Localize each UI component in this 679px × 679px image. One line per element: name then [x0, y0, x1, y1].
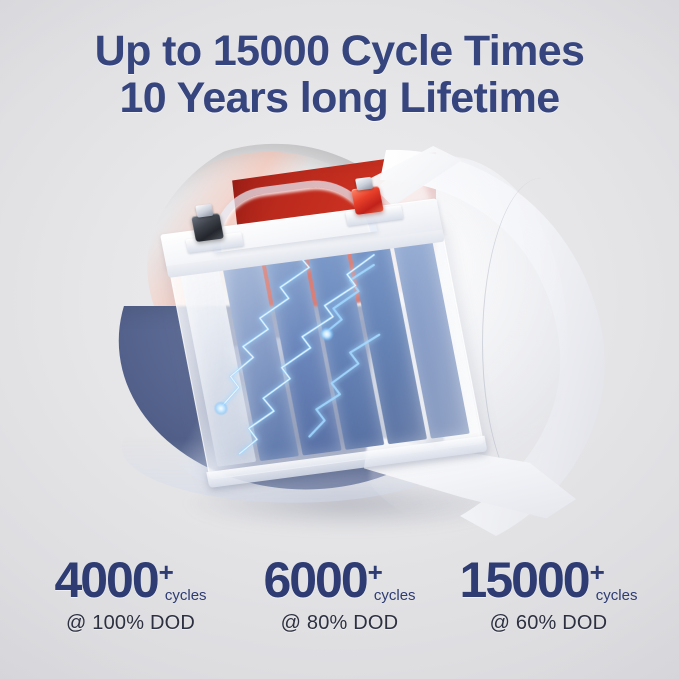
- stat-dod-label: @ 60% DOD: [444, 612, 653, 635]
- headline-line-2: 10 Years long Lifetime: [0, 75, 679, 122]
- stat-block-80-dod: 6000 + cycles @ 80% DOD: [235, 555, 444, 635]
- stat-number: 6000: [263, 555, 366, 605]
- stat-number: 4000: [54, 555, 157, 605]
- battery-unit: [147, 181, 501, 507]
- headline-line-1: Up to 15000 Cycle Times: [0, 28, 679, 75]
- hero-product-image: [78, 138, 608, 538]
- stat-value-group: 4000 + cycles: [26, 555, 235, 605]
- stat-value-group: 6000 + cycles: [235, 555, 444, 605]
- stat-unit: cycles: [374, 588, 416, 603]
- stat-dod-label: @ 80% DOD: [235, 612, 444, 635]
- stat-plus-sign: +: [368, 559, 383, 585]
- stat-value-group: 15000 + cycles: [444, 555, 653, 605]
- stat-unit: cycles: [165, 588, 207, 603]
- negative-terminal: [191, 213, 224, 242]
- stat-dod-label: @ 100% DOD: [26, 612, 235, 635]
- cycle-stats-row: 4000 + cycles @ 100% DOD 6000 + cycles @…: [0, 555, 679, 635]
- stat-plus-sign: +: [159, 559, 174, 585]
- product-feature-banner: Up to 15000 Cycle Times 10 Years long Li…: [0, 0, 679, 679]
- terminal-cap: [355, 177, 373, 191]
- headline-block: Up to 15000 Cycle Times 10 Years long Li…: [0, 28, 679, 122]
- stat-block-100-dod: 4000 + cycles @ 100% DOD: [26, 555, 235, 635]
- stat-number: 15000: [460, 555, 589, 605]
- positive-terminal: [351, 186, 384, 215]
- stat-plus-sign: +: [590, 559, 605, 585]
- terminal-cap: [195, 204, 213, 218]
- stat-unit: cycles: [596, 588, 638, 603]
- stat-block-60-dod: 15000 + cycles @ 60% DOD: [444, 555, 653, 635]
